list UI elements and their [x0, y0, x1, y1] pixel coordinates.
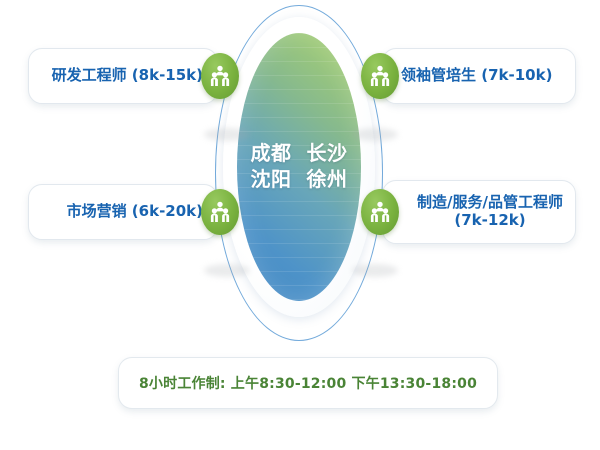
center-hub: 成都 长沙 沈阳 徐州: [215, 5, 385, 345]
people-group-icon-marketing: [201, 189, 239, 235]
connector-smudge-left-upper: [204, 128, 250, 141]
job-card-rd-engineer-label: 研发工程师 (8k-15k): [29, 67, 203, 85]
center-cities-text: 成都 长沙 沈阳 徐州: [251, 141, 348, 192]
job-card-leader-trainee-label: 领袖管培生 (7k-10k): [401, 67, 575, 85]
job-card-rd-engineer[interactable]: 研发工程师 (8k-15k): [28, 48, 218, 104]
job-card-marketing-label: 市场营销 (6k-20k): [29, 203, 203, 221]
work-hours-text: 8小时工作制: 上午8:30-12:00 下午13:30-18:00: [139, 373, 477, 393]
people-group-icon-rd-engineer: [201, 53, 239, 99]
job-card-leader-trainee[interactable]: 领袖管培生 (7k-10k): [382, 48, 576, 104]
infographic-canvas: 成都 长沙 沈阳 徐州 研发工程师 (8k-15k) 市场营销 (6k-20k): [0, 0, 600, 450]
people-group-icon-manufacturing-service-qc: [361, 189, 399, 235]
connector-smudge-right-lower: [352, 264, 398, 277]
connector-smudge-left-lower: [204, 264, 250, 277]
center-core-ellipse: 成都 长沙 沈阳 徐州: [237, 33, 361, 301]
work-hours-bar: 8小时工作制: 上午8:30-12:00 下午13:30-18:00: [118, 357, 498, 409]
job-card-manufacturing-service-qc-label: 制造/服务/品管工程师 (7k-12k): [405, 194, 575, 229]
people-group-icon-leader-trainee: [361, 53, 399, 99]
job-card-marketing[interactable]: 市场营销 (6k-20k): [28, 184, 218, 240]
connector-smudge-right-upper: [352, 128, 398, 141]
job-card-manufacturing-service-qc[interactable]: 制造/服务/品管工程师 (7k-12k): [382, 180, 576, 244]
